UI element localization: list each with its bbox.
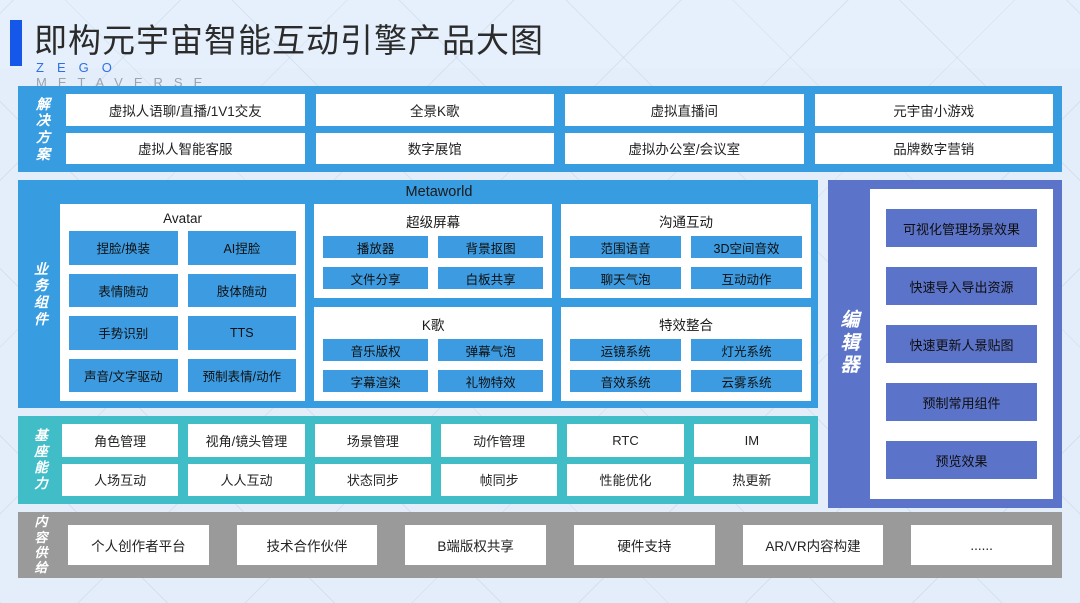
middle-card-stack: 超级屏幕 播放器 背景抠图 文件分享 白板共享 K歌 音乐版权 弹幕气泡 (314, 204, 552, 401)
foundation-label-char: 能 (34, 460, 48, 476)
content-supply-tile[interactable]: B端版权共享 (405, 525, 546, 565)
business-label-char: 组 (34, 294, 48, 311)
foundation-tile[interactable]: 角色管理 (62, 424, 178, 457)
editor-feature-list: 可视化管理场景效果 快速导入导出资源 快速更新人景贴图 预制常用组件 预览效果 (870, 189, 1053, 499)
solution-tile[interactable]: 虚拟直播间 (565, 94, 804, 126)
feature-tile[interactable]: 音效系统 (570, 370, 681, 392)
feature-tile[interactable]: 背景抠图 (438, 236, 543, 258)
feature-tile[interactable]: 运镜系统 (570, 339, 681, 361)
editor-tile[interactable]: 可视化管理场景效果 (886, 209, 1037, 247)
business-components-band: 业 务 组 件 Metaworld Avatar 捏脸/换装 AI捏脸 表情随动… (18, 180, 818, 408)
editor-label-char: 编 (840, 310, 859, 332)
metaworld-title: Metaworld (60, 180, 818, 204)
solutions-label-char: 方 (36, 129, 50, 146)
foundation-tile[interactable]: 视角/镜头管理 (188, 424, 304, 457)
editor-label-char: 辑 (840, 333, 859, 355)
solutions-band: 解 决 方 案 虚拟人语聊/直播/1V1交友 全景K歌 虚拟直播间 元宇宙小游戏… (18, 86, 1062, 172)
editor-band: 编 辑 器 可视化管理场景效果 快速导入导出资源 快速更新人景贴图 预制常用组件… (828, 180, 1062, 508)
foundation-tile[interactable]: 热更新 (694, 464, 810, 497)
card-title: Avatar (69, 208, 296, 231)
page-title: 即构元宇宙智能互动引擎产品大图 (34, 14, 544, 62)
metaworld-container: Metaworld Avatar 捏脸/换装 AI捏脸 表情随动 肢体随动 手势… (60, 180, 818, 408)
feature-tile[interactable]: 声音/文字驱动 (69, 359, 178, 393)
card-title: 沟通互动 (570, 208, 802, 236)
content-supply-band: 内 容 供 给 个人创作者平台 技术合作伙伴 B端版权共享 硬件支持 AR/VR… (18, 512, 1062, 578)
content-label-char: 给 (34, 560, 47, 575)
card-ksong: K歌 音乐版权 弹幕气泡 字幕渲染 礼物特效 (314, 307, 552, 401)
editor-tile[interactable]: 快速导入导出资源 (886, 267, 1037, 305)
foundation-tile[interactable]: 状态同步 (315, 464, 431, 497)
solutions-label-char: 解 (36, 96, 50, 113)
feature-tile[interactable]: AI捏脸 (188, 231, 297, 265)
content-label-char: 内 (34, 514, 47, 529)
foundation-tile[interactable]: RTC (567, 424, 683, 457)
page-header: 即构元宇宙智能互动引擎产品大图 ZEGO METAVERSE (10, 18, 1070, 84)
solutions-band-label: 解 决 方 案 (18, 86, 62, 172)
product-map-page: 即构元宇宙智能互动引擎产品大图 ZEGO METAVERSE 解 决 方 案 虚… (0, 0, 1080, 603)
editor-tile[interactable]: 快速更新人景贴图 (886, 325, 1037, 363)
foundation-label-char: 基 (34, 428, 48, 444)
right-card-stack: 沟通互动 范围语音 3D空间音效 聊天气泡 互动动作 特效整合 运镜系统 灯光系… (561, 204, 811, 401)
solution-tile[interactable]: 虚拟人语聊/直播/1V1交友 (66, 94, 305, 126)
business-band-label: 业 务 组 件 (18, 180, 60, 408)
foundation-band-label: 基 座 能 力 (18, 416, 60, 504)
feature-tile[interactable]: TTS (188, 316, 297, 350)
card-effects-grid: 运镜系统 灯光系统 音效系统 云雾系统 (570, 339, 802, 392)
feature-tile[interactable]: 文件分享 (323, 267, 428, 289)
feature-tile[interactable]: 捏脸/换装 (69, 231, 178, 265)
card-title: 超级屏幕 (323, 208, 543, 236)
card-title: 特效整合 (570, 311, 802, 339)
business-label-char: 件 (34, 311, 48, 328)
brand-zego: ZEGO (36, 60, 125, 75)
feature-tile[interactable]: 范围语音 (570, 236, 681, 258)
feature-tile[interactable]: 预制表情/动作 (188, 359, 297, 393)
card-super-screen: 超级屏幕 播放器 背景抠图 文件分享 白板共享 (314, 204, 552, 298)
solutions-label-char: 决 (36, 112, 50, 129)
editor-label-char: 器 (840, 355, 859, 377)
feature-tile[interactable]: 云雾系统 (691, 370, 802, 392)
feature-tile[interactable]: 手势识别 (69, 316, 178, 350)
solution-tile[interactable]: 全景K歌 (316, 94, 555, 126)
feature-tile[interactable]: 白板共享 (438, 267, 543, 289)
feature-tile[interactable]: 礼物特效 (438, 370, 543, 392)
feature-tile[interactable]: 肢体随动 (188, 274, 297, 308)
content-supply-tile[interactable]: 技术合作伙伴 (237, 525, 378, 565)
foundation-tile[interactable]: 人人互动 (188, 464, 304, 497)
card-avatar: Avatar 捏脸/换装 AI捏脸 表情随动 肢体随动 手势识别 TTS 声音/… (60, 204, 305, 401)
content-label-char: 供 (34, 545, 47, 560)
feature-tile[interactable]: 3D空间音效 (691, 236, 802, 258)
card-super-screen-grid: 播放器 背景抠图 文件分享 白板共享 (323, 236, 543, 289)
foundation-label-char: 座 (34, 444, 48, 460)
solution-tile[interactable]: 虚拟办公室/会议室 (565, 133, 804, 165)
feature-tile[interactable]: 互动动作 (691, 267, 802, 289)
card-ksong-grid: 音乐版权 弹幕气泡 字幕渲染 礼物特效 (323, 339, 543, 392)
foundation-tile[interactable]: IM (694, 424, 810, 457)
content-supply-grid: 个人创作者平台 技术合作伙伴 B端版权共享 硬件支持 AR/VR内容构建 ...… (58, 512, 1062, 578)
card-communication-grid: 范围语音 3D空间音效 聊天气泡 互动动作 (570, 236, 802, 289)
header-accent-bar (10, 20, 22, 66)
solution-tile[interactable]: 元宇宙小游戏 (815, 94, 1054, 126)
content-supply-band-label: 内 容 供 给 (18, 512, 58, 578)
feature-tile[interactable]: 表情随动 (69, 274, 178, 308)
card-communication: 沟通互动 范围语音 3D空间音效 聊天气泡 互动动作 (561, 204, 811, 298)
solutions-grid: 虚拟人语聊/直播/1V1交友 全景K歌 虚拟直播间 元宇宙小游戏 虚拟人智能客服… (62, 86, 1062, 172)
foundation-tile[interactable]: 场景管理 (315, 424, 431, 457)
editor-tile[interactable]: 预览效果 (886, 441, 1037, 479)
solution-tile[interactable]: 虚拟人智能客服 (66, 133, 305, 165)
feature-tile[interactable]: 音乐版权 (323, 339, 428, 361)
business-label-char: 务 (34, 277, 48, 294)
editor-tile[interactable]: 预制常用组件 (886, 383, 1037, 421)
foundation-band: 基 座 能 力 角色管理 视角/镜头管理 场景管理 动作管理 RTC IM 人场… (18, 416, 818, 504)
solution-tile[interactable]: 数字展馆 (316, 133, 555, 165)
foundation-tile[interactable]: 性能优化 (567, 464, 683, 497)
content-supply-tile[interactable]: 个人创作者平台 (68, 525, 209, 565)
card-title: K歌 (323, 311, 543, 339)
business-label-char: 业 (34, 261, 48, 278)
foundation-tile[interactable]: 帧同步 (441, 464, 557, 497)
content-supply-tile[interactable]: AR/VR内容构建 (743, 525, 884, 565)
card-avatar-grid: 捏脸/换装 AI捏脸 表情随动 肢体随动 手势识别 TTS 声音/文字驱动 预制… (69, 231, 296, 392)
foundation-label-char: 力 (34, 476, 48, 492)
content-supply-tile[interactable]: ...... (911, 525, 1052, 565)
solutions-label-char: 案 (36, 146, 50, 163)
foundation-grid: 角色管理 视角/镜头管理 场景管理 动作管理 RTC IM 人场互动 人人互动 … (60, 416, 818, 504)
card-effects: 特效整合 运镜系统 灯光系统 音效系统 云雾系统 (561, 307, 811, 401)
content-supply-tile[interactable]: 硬件支持 (574, 525, 715, 565)
foundation-tile[interactable]: 动作管理 (441, 424, 557, 457)
feature-tile[interactable]: 播放器 (323, 236, 428, 258)
feature-tile[interactable]: 灯光系统 (691, 339, 802, 361)
editor-band-label: 编 辑 器 (828, 180, 870, 508)
content-label-char: 容 (34, 530, 47, 545)
brand-lockup: ZEGO METAVERSE (36, 59, 125, 77)
metaworld-columns: Avatar 捏脸/换装 AI捏脸 表情随动 肢体随动 手势识别 TTS 声音/… (60, 204, 818, 408)
feature-tile[interactable]: 字幕渲染 (323, 370, 428, 392)
feature-tile[interactable]: 聊天气泡 (570, 267, 681, 289)
foundation-tile[interactable]: 人场互动 (62, 464, 178, 497)
solution-tile[interactable]: 品牌数字营销 (815, 133, 1054, 165)
feature-tile[interactable]: 弹幕气泡 (438, 339, 543, 361)
